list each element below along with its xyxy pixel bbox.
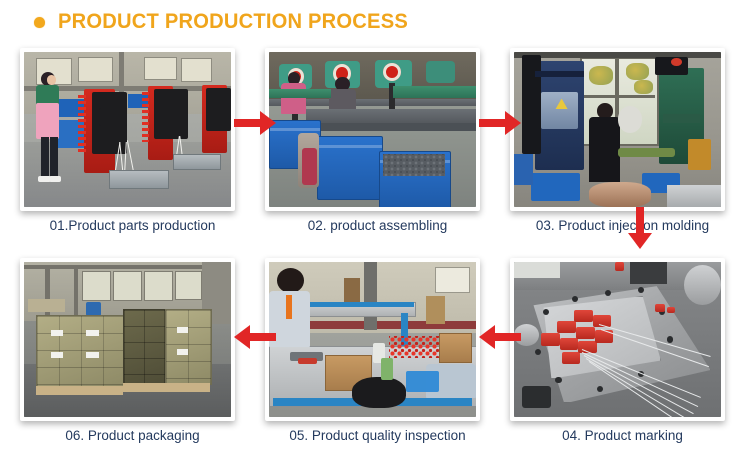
photo-frame-5 bbox=[265, 258, 480, 421]
photo-frame-2 bbox=[265, 48, 480, 211]
process-step-2: 02. product assembling bbox=[255, 46, 500, 252]
photo-product-assembling bbox=[269, 52, 476, 207]
product-process-infographic: PRODUCT PRODUCTION PROCESS bbox=[0, 0, 750, 470]
page-header: PRODUCT PRODUCTION PROCESS bbox=[0, 0, 750, 44]
process-step-3: 03. Product injection molding bbox=[500, 46, 745, 252]
process-step-6: 06. Product packaging bbox=[10, 256, 255, 462]
photo-frame-1 bbox=[20, 48, 235, 211]
photo-frame-4 bbox=[510, 258, 725, 421]
step-caption-4: 04. Product marking bbox=[500, 428, 745, 443]
photo-product-parts-production bbox=[24, 52, 231, 207]
step-caption-6: 06. Product packaging bbox=[10, 428, 255, 443]
photo-injection-molding bbox=[514, 52, 721, 207]
step-caption-5: 05. Product quality inspection bbox=[255, 428, 500, 443]
diamond-bullet-icon bbox=[34, 17, 45, 28]
photo-quality-inspection bbox=[269, 262, 476, 417]
process-grid: 01.Product parts production bbox=[0, 44, 750, 470]
process-step-1: 01.Product parts production bbox=[10, 46, 255, 252]
step-caption-3: 03. Product injection molding bbox=[500, 218, 745, 233]
arrow-right-icon-step1-to-step2 bbox=[232, 108, 278, 138]
photo-product-packaging bbox=[24, 262, 231, 417]
arrow-left-icon-step5-to-step6 bbox=[232, 322, 278, 352]
step-caption-2: 02. product assembling bbox=[255, 218, 500, 233]
process-step-5: 05. Product quality inspection bbox=[255, 256, 500, 462]
step-caption-1: 01.Product parts production bbox=[10, 218, 255, 233]
process-step-4: 04. Product marking bbox=[500, 256, 745, 462]
page-title: PRODUCT PRODUCTION PROCESS bbox=[58, 10, 408, 34]
photo-product-marking bbox=[514, 262, 721, 417]
photo-frame-3 bbox=[510, 48, 725, 211]
arrow-down-icon-step3-to-step4 bbox=[625, 205, 655, 251]
arrow-right-icon-step2-to-step3 bbox=[477, 108, 523, 138]
arrow-left-icon-step4-to-step5 bbox=[477, 322, 523, 352]
photo-frame-6 bbox=[20, 258, 235, 421]
